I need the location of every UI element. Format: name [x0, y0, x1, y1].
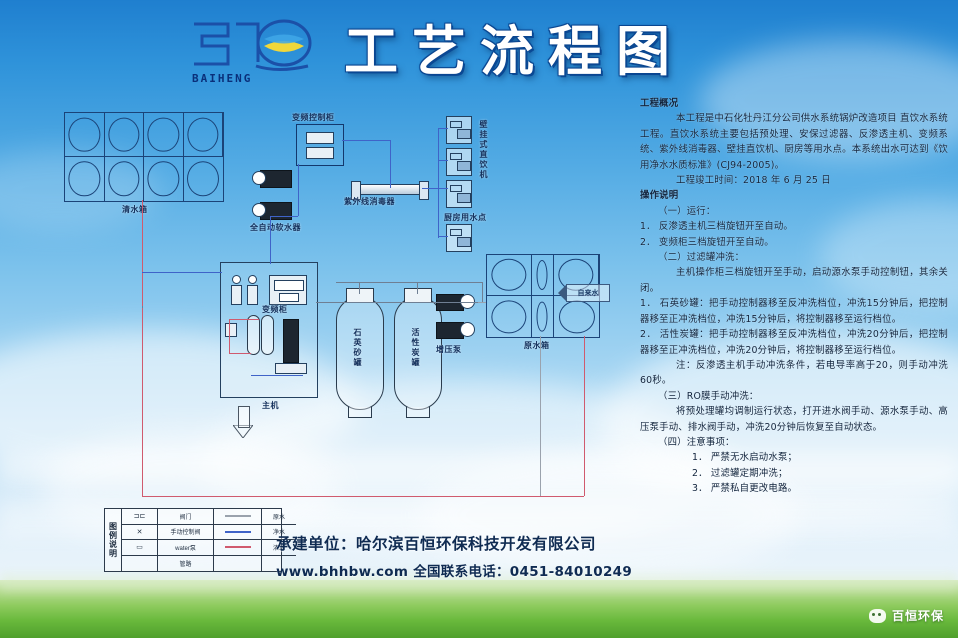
legend-line-swatch: [214, 525, 262, 541]
clean-water-tank-label: 清水箱: [122, 204, 148, 215]
grass-strip: [0, 580, 958, 638]
machine-knob: [248, 275, 257, 284]
poster-root: BAIHENG 工艺流程图 清水箱: [0, 0, 958, 638]
ro-main-machine: [220, 262, 318, 398]
legend-symbol: ✕: [122, 525, 158, 541]
softener-valve-icon: [252, 171, 266, 185]
cabinet-display: [306, 132, 334, 144]
high-pressure-pump: [283, 319, 299, 363]
cabinet-display: [306, 147, 334, 159]
kitchen-point-label: 厨房用水点: [444, 212, 487, 223]
uv-sterilizer-label: 紫外线消毒器: [344, 196, 395, 207]
tank-cell: [554, 296, 599, 337]
section-4-item-3: 3． 严禁私自更改电路。: [640, 481, 948, 496]
overview-title: 工程概况: [640, 96, 948, 111]
pipe-dispenser-branch: [438, 236, 448, 237]
tank-cell: [105, 113, 145, 157]
pipe-dispenser-branch: [438, 128, 448, 129]
tank-cell: [487, 255, 532, 296]
concentrate-line: [229, 353, 251, 354]
booster-pump-lower: [432, 320, 478, 342]
wall-dispenser: [446, 148, 472, 176]
vfd-cabinet-label: 变频柜: [262, 304, 288, 315]
pipe-dispenser-riser: [438, 128, 439, 238]
wechat-icon: [869, 609, 886, 623]
machine-switch: [231, 285, 242, 305]
clean-water-tank: [64, 112, 224, 202]
section-1-item-1: 1． 反渗透主机三档旋钮开至自动。: [640, 219, 948, 234]
legend-grid: ⊐⊏ 阀门 原水 ✕ 手动控制阀 净水 ▭ water泵 浓水 管路: [122, 509, 296, 571]
booster-pump-label: 增压泵: [436, 344, 462, 355]
section-4-item-2: 2． 过滤罐定期冲洗；: [640, 466, 948, 481]
softener-valve-icon: [252, 203, 266, 217]
wall-dispensers-label: 壁挂式直饮机: [478, 120, 489, 196]
legend-line-swatch: [214, 540, 262, 556]
legend-table: 图例说明 ⊐⊏ 阀门 原水 ✕ 手动控制阀 净水 ▭ water泵 浓水 管路: [104, 508, 282, 572]
control-cabinet-label: 变频控制柜: [292, 112, 335, 123]
raw-water-tank-label: 原水箱: [524, 340, 550, 351]
poster-header: BAIHENG 工艺流程图: [0, 4, 958, 96]
auto-softener-upper: [252, 168, 298, 190]
vessel-foot: [406, 407, 430, 418]
builder-line: 承建单位：哈尔滨百恒环保科技开发有限公司: [276, 532, 676, 554]
carbon-filter-label: 活性炭罐: [410, 328, 421, 380]
page-title: 工艺流程图: [344, 12, 764, 90]
logo-wordmark: BAIHENG: [192, 72, 252, 85]
pipe-raw-vertical-right: [584, 336, 585, 496]
pure-line: [251, 375, 303, 376]
company-logo: BAIHENG: [186, 16, 322, 90]
concentrate-line: [229, 319, 230, 353]
pipe-raw-bottom: [142, 496, 584, 497]
tank-cell: [65, 113, 105, 157]
tank-cell: [144, 157, 184, 201]
section-2-intro: 主机操作柜三档旋钮开至手动，启动源水泵手动控制钮，其余关闭。: [640, 265, 948, 296]
logo-mark-icon: [186, 16, 322, 72]
auto-softener-lower: [252, 200, 298, 222]
legend-line-swatch: [214, 556, 262, 572]
section-2-note: 注：反渗透主机手动冲洗条件，若电导率高于20，则手动冲洗60秒。: [640, 358, 948, 389]
sand-filter-label: 石英砂罐: [352, 328, 363, 380]
legend-symbol: ⊐⊏: [122, 509, 158, 525]
pipe-machine-to-filters: [316, 302, 486, 303]
overview-paragraph: 本工程是中石化牡丹江分公司供水系统锅炉改造项目 直饮水系统工程。直饮水系统主要包…: [640, 111, 948, 173]
legend-line-swatch: [214, 509, 262, 525]
wall-dispenser: [446, 180, 472, 208]
auto-softener-label: 全自动软水器: [250, 222, 301, 233]
machine-switch: [247, 285, 258, 305]
tank-cell: [184, 157, 224, 201]
tank-cell: [144, 113, 184, 157]
legend-name: water泵: [158, 540, 214, 556]
pipe-pure-to-cabinet: [270, 216, 298, 217]
machine-knob: [232, 275, 241, 284]
legend-line-name: 原水: [262, 509, 296, 525]
section-3-title: （三）RO膜手动冲洗：: [640, 389, 948, 404]
control-cabinet: [296, 124, 344, 166]
process-flow-diagram: 清水箱 原水箱 自来水 变频控制柜: [34, 96, 634, 516]
pipe-pure-riser: [270, 216, 271, 264]
booster-pump-upper: [432, 292, 478, 314]
drain-arrow-icon: [233, 425, 253, 438]
footer-info: 承建单位：哈尔滨百恒环保科技开发有限公司 www.bhhbw.com 全国联系电…: [276, 532, 676, 580]
section-2-title: （二）过滤罐冲洗：: [640, 250, 948, 265]
drain-outlet: [236, 406, 250, 442]
pipe-dispenser-branch: [438, 160, 448, 161]
legend-symbol: ▭: [122, 540, 158, 556]
vfd-cabinet-panel: [269, 275, 307, 305]
pipe-filters-top: [336, 282, 482, 283]
wechat-badge-label: 百恒环保: [892, 607, 944, 624]
tap-water-inlet-arrow: 自来水: [566, 284, 610, 302]
section-3-body: 将预处理罐均调制运行状态，打开进水阀手动、源水泵手动、高压泵手动、排水阀手动，冲…: [640, 404, 948, 435]
main-machine-label: 主机: [262, 400, 279, 411]
section-1-item-2: 2． 变频柜三档旋钮开至自动。: [640, 235, 948, 250]
section-1-title: （一）运行：: [640, 204, 948, 219]
legend-title: 图例说明: [105, 509, 122, 571]
vfd-display: [274, 280, 304, 291]
pipe-sand-riser: [359, 282, 360, 294]
operation-title: 操作说明: [640, 188, 948, 203]
pipe-rawtank-to-pump: [478, 302, 486, 303]
pipe-uv-to-dispensers: [422, 188, 448, 189]
section-2-item-1: 1． 石英砂罐：把手动控制器移至反冲洗档位，冲洗15分钟后，把控制器移至正冲洗档…: [640, 296, 948, 327]
section-2-item-2: 2． 活性炭罐：把手动控制器移至反冲洗档位，冲洗20分钟后，把控制器移至正冲洗档…: [640, 327, 948, 358]
concentrate-line: [229, 319, 259, 320]
tank-cell: [532, 296, 554, 337]
pipe-to-raw-tank: [482, 282, 483, 302]
pump-head-icon: [460, 322, 475, 337]
wall-dispenser: [446, 116, 472, 144]
tank-cell: [65, 157, 105, 201]
ro-membrane-vessel: [247, 315, 260, 355]
pipe-tank-to-pure: [142, 272, 222, 273]
legend-name: 阀门: [158, 509, 214, 525]
section-4-item-1: 1． 严禁无水启动水泵；: [640, 450, 948, 465]
pipe-carbon-riser: [417, 282, 418, 294]
ro-membrane-vessel: [261, 315, 274, 355]
legend-symbol: [122, 556, 158, 572]
pipe-uv-riser: [390, 140, 391, 188]
vessel-foot: [348, 407, 372, 418]
project-description: 工程概况 本工程是中石化牡丹江分公司供水系统锅炉改造项目 直饮水系统工程。直饮水…: [640, 96, 948, 566]
completion-date: 工程竣工时间：2018 年 6 月 25 日: [640, 173, 948, 188]
legend-name: 手动控制阀: [158, 525, 214, 541]
contact-line: www.bhhbw.com 全国联系电话：0451-84010249: [276, 560, 676, 580]
tank-cell: [487, 296, 532, 337]
tank-cell: [105, 157, 145, 201]
pipe-rawtank-down: [540, 336, 541, 496]
pipe-cabinet-riser: [298, 164, 299, 216]
wechat-badge: 百恒环保: [869, 607, 944, 624]
vfd-keypad: [279, 293, 299, 302]
pipe-tank-to-machine: [142, 306, 143, 308]
tank-cell: [184, 113, 224, 157]
pump-base: [275, 363, 307, 374]
tank-cell: [532, 255, 554, 296]
tap-water-inlet-label: 自来水: [578, 288, 599, 298]
prefilter-module: [225, 323, 237, 337]
legend-name: 管路: [158, 556, 214, 572]
section-4-title: （四）注意事项：: [640, 435, 948, 450]
pipe-cabinet-to-uv: [342, 140, 390, 141]
kitchen-water-point: [446, 224, 472, 252]
pipe-raw-vertical-left: [142, 200, 143, 496]
